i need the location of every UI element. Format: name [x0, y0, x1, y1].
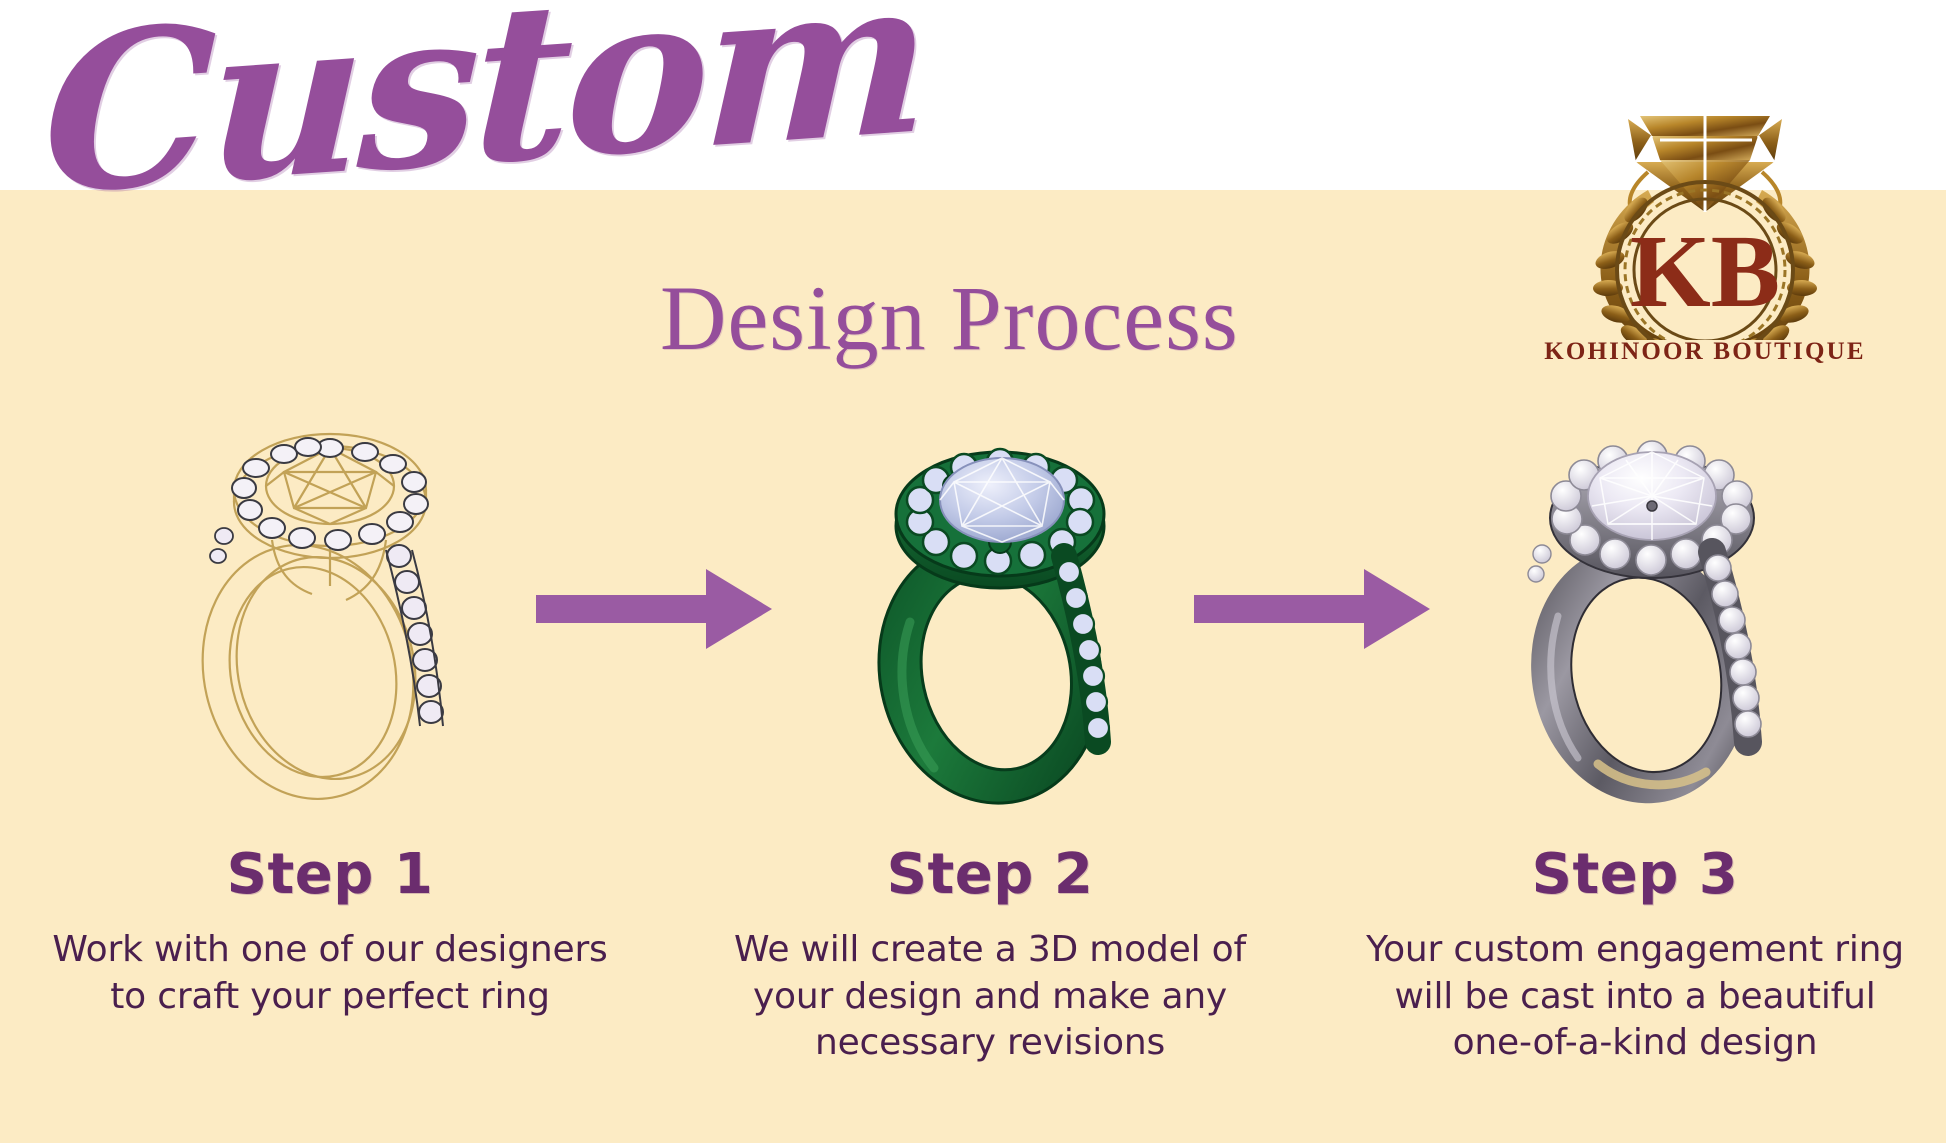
- step-2-body: We will create a 3D model of your design…: [680, 927, 1300, 1065]
- step-caption-1: Step 1 Work with one of our designers to…: [20, 845, 640, 1020]
- step-3-body-line-3: one-of-a-kind design: [1325, 1020, 1945, 1066]
- step-1-body-line-1: Work with one of our designers: [20, 927, 640, 973]
- step-2-body-line-2: your design and make any: [680, 974, 1300, 1020]
- step-1-body-line-2: to craft your perfect ring: [20, 974, 640, 1020]
- page-subtitle: Design Process: [660, 272, 1239, 364]
- step-3-heading: Step 3: [1325, 845, 1945, 905]
- center-stone: [1588, 452, 1716, 540]
- steps-artwork-row: [0, 410, 1946, 830]
- ring-sketch-wireframe: [180, 410, 480, 810]
- brand-logo[interactable]: KB KOHINOOR BOUTIQUE: [1540, 70, 1870, 375]
- step-3-body-line-1: Your custom engagement ring: [1325, 927, 1945, 973]
- process-arrow-1: [534, 565, 774, 653]
- step-3-body-line-2: will be cast into a beautiful: [1325, 974, 1945, 1020]
- step-1-body: Work with one of our designers to craft …: [20, 927, 640, 1019]
- ring-3d-model-green: [850, 422, 1150, 822]
- halo-stone-group: [232, 438, 428, 550]
- center-stone: [940, 458, 1064, 542]
- logo-wordmark: KOHINOOR BOUTIQUE: [1540, 338, 1870, 366]
- step-caption-3: Step 3 Your custom engagement ring will …: [1325, 845, 1945, 1066]
- logo-monogram-text: KB: [1630, 214, 1780, 329]
- step-2-body-line-1: We will create a 3D model of: [680, 927, 1300, 973]
- process-arrow-2: [1192, 565, 1432, 653]
- step-2-body-line-3: necessary revisions: [680, 1020, 1300, 1066]
- ring-finished-platinum: [1500, 420, 1800, 820]
- step-caption-2: Step 2 We will create a 3D model of your…: [680, 845, 1300, 1066]
- step-1-heading: Step 1: [20, 845, 640, 905]
- step-3-body: Your custom engagement ring will be cast…: [1325, 927, 1945, 1065]
- step-2-heading: Step 2: [680, 845, 1300, 905]
- infographic-canvas: Custom Design Process: [0, 0, 1946, 1143]
